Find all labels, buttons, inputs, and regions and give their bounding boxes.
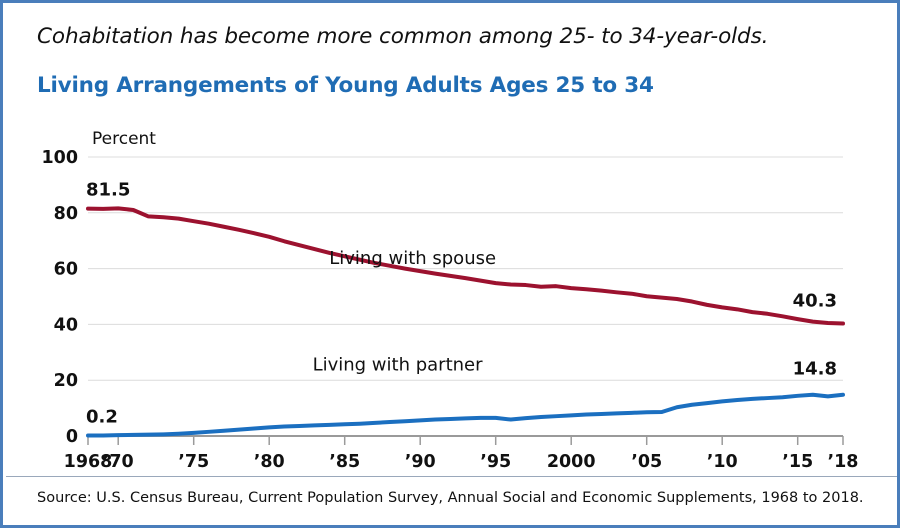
x-tick-label: ’90	[405, 452, 436, 472]
line-chart-svg: 020406080100Percent1968’70’75’80’85’90’9…	[3, 113, 900, 473]
footer-divider	[6, 476, 900, 477]
y-tick-label: 40	[54, 315, 78, 335]
x-tick-label: ’85	[329, 452, 360, 472]
plot-area: 020406080100Percent1968’70’75’80’85’90’9…	[3, 113, 900, 473]
y-tick-label: 80	[54, 204, 78, 224]
value-label-spouse-start: 81.5	[86, 180, 130, 201]
x-tick-label: ’95	[480, 452, 511, 472]
x-tick-label: ’15	[782, 452, 813, 472]
y-tick-label: 20	[54, 371, 78, 391]
series-label-partner: Living with partner	[313, 354, 484, 375]
x-tick-label: 2000	[547, 452, 596, 472]
x-tick-label: ’80	[254, 452, 285, 472]
y-tick-label: 100	[41, 148, 78, 168]
chart-figure: Cohabitation has become more common amon…	[0, 0, 900, 528]
y-tick-label: 60	[54, 260, 78, 280]
x-tick-label: ’10	[707, 452, 738, 472]
value-label-spouse-end: 40.3	[793, 291, 837, 312]
x-tick-label: ’05	[631, 452, 662, 472]
figure-kicker: Cohabitation has become more common amon…	[37, 24, 768, 49]
series-line-partner	[88, 395, 843, 436]
series-label-spouse: Living with spouse	[329, 248, 496, 269]
source-note: Source: U.S. Census Bureau, Current Popu…	[37, 490, 864, 506]
figure-headline: Living Arrangements of Young Adults Ages…	[37, 73, 654, 98]
value-label-partner-start: 0.2	[86, 406, 118, 427]
x-tick-label: ’18	[827, 452, 858, 472]
x-tick-label: ’70	[103, 452, 134, 472]
x-tick-label: ’75	[178, 452, 209, 472]
y-tick-label: 0	[66, 427, 78, 447]
y-axis-title: Percent	[92, 129, 156, 149]
value-label-partner-end: 14.8	[793, 359, 837, 380]
